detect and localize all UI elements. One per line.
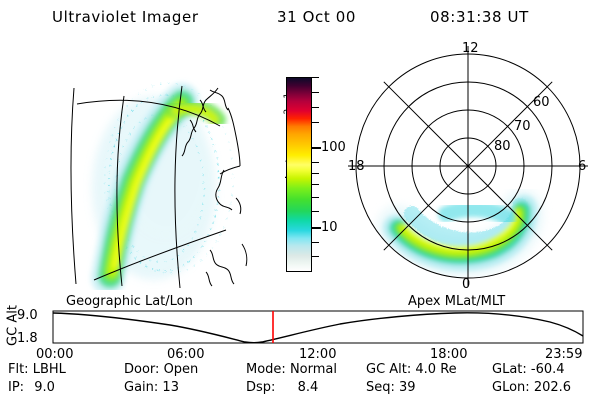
colorbar-tick [312, 77, 319, 78]
status-key-flt: Flt: [8, 362, 29, 377]
status-footer: Flt: LBHL Door: Open Mode: Normal GC Alt… [0, 362, 600, 398]
colorbar-tick [312, 92, 319, 93]
mlt-label-18: 18 [348, 159, 365, 174]
orbit-xtick-1: 06:00 [167, 347, 204, 362]
colorbar-gradient[interactable] [286, 77, 312, 272]
apex-mlt-spokes [348, 46, 588, 286]
status-value-door: Open [164, 362, 199, 377]
colorbar-tick [312, 184, 319, 185]
lat-label-70: 70 [514, 119, 531, 134]
orbit-xtick-0: 00:00 [36, 347, 73, 362]
status-field-mode: Mode: Normal [246, 362, 337, 377]
status-field-glat: GLat: -60.4 [492, 362, 565, 377]
status-value-flt: LBHL [33, 362, 66, 377]
apex-polar-canvas: 12 6 0 18 60 70 80 [340, 38, 600, 290]
colorbar-tick [312, 173, 319, 174]
orbit-xtick-2: 12:00 [299, 347, 336, 362]
colorbar-tick-major-10 [312, 227, 321, 229]
colorbar-tick [312, 122, 319, 123]
status-value-gcalt: 4.0 Re [415, 362, 456, 377]
status-row-2: IP: 9.0 Gain: 13 Dsp: 8.4 Seq: 39 GLon: … [0, 380, 600, 397]
orbit-altitude-curve [53, 313, 583, 343]
orbit-altitude-strip[interactable]: GC Alt 9.0 1.8 00:00 06:00 12:00 18:00 2… [0, 306, 600, 356]
status-field-seq: Seq: 39 [366, 380, 416, 395]
colorbar-tick [312, 162, 319, 163]
status-field-dsp: Dsp: 8.4 [246, 380, 318, 395]
colorbar-tick [312, 107, 319, 108]
colorbar-tick [312, 197, 319, 198]
status-field-ip: IP: 9.0 [8, 380, 55, 395]
mlt-label-12: 12 [462, 41, 479, 56]
colorbar-tick [312, 242, 319, 243]
mlt-label-0: 0 [462, 277, 470, 290]
page-title: Ultraviolet Imager [52, 8, 199, 26]
status-value-glon: 202.6 [534, 380, 571, 395]
colorbar-group[interactable]: photon cm-2s-1 100 10 [255, 60, 345, 290]
orbit-xtick-4: 23:59 [545, 347, 582, 362]
status-value-mode: Normal [290, 362, 337, 377]
status-key-seq: Seq: [366, 380, 395, 395]
status-key-dsp: Dsp: [246, 380, 275, 395]
colorbar-tick-major-100 [312, 147, 321, 149]
status-key-mode: Mode: [246, 362, 286, 377]
lat-label-80: 80 [494, 139, 511, 154]
orbit-xtick-3: 18:00 [430, 347, 467, 362]
status-key-door: Door: [124, 362, 159, 377]
apex-polar-panel[interactable]: 12 6 0 18 60 70 80 [340, 38, 600, 290]
status-field-gain: Gain: 13 [124, 380, 179, 395]
orbit-plot-frame [53, 311, 583, 343]
observation-date: 31 Oct 00 [277, 8, 356, 26]
colorbar-tick [312, 211, 319, 212]
colorbar-label-10: 10 [321, 221, 338, 234]
status-field-glon: GLon: 202.6 [492, 380, 571, 395]
geographic-image-canvas [14, 38, 254, 290]
status-value-glat: -60.4 [531, 362, 565, 377]
status-value-seq: 39 [399, 380, 416, 395]
status-key-glon: GLon: [492, 380, 530, 395]
status-key-gcalt: GC Alt: [366, 362, 411, 377]
status-key-glat: GLat: [492, 362, 527, 377]
status-key-ip: IP: [8, 380, 24, 395]
status-row-1: Flt: LBHL Door: Open Mode: Normal GC Alt… [0, 362, 600, 379]
status-field-door: Door: Open [124, 362, 198, 377]
status-value-dsp: 8.4 [298, 380, 319, 395]
mlt-label-6: 6 [578, 159, 586, 174]
colorbar-tick [312, 256, 319, 257]
geographic-image-panel[interactable] [14, 38, 254, 290]
status-field-gcalt: GC Alt: 4.0 Re [366, 362, 457, 377]
status-key-gain: Gain: [124, 380, 158, 395]
geographic-aurora-emission [92, 83, 233, 280]
header-bar: Ultraviolet Imager 31 Oct 00 08:31:38 UT [0, 4, 600, 30]
observation-time: 08:31:38 UT [430, 8, 529, 26]
status-value-ip: 9.0 [34, 380, 55, 395]
lat-label-60: 60 [533, 95, 550, 110]
status-field-flt: Flt: LBHL [8, 362, 66, 377]
status-value-gain: 13 [162, 380, 179, 395]
